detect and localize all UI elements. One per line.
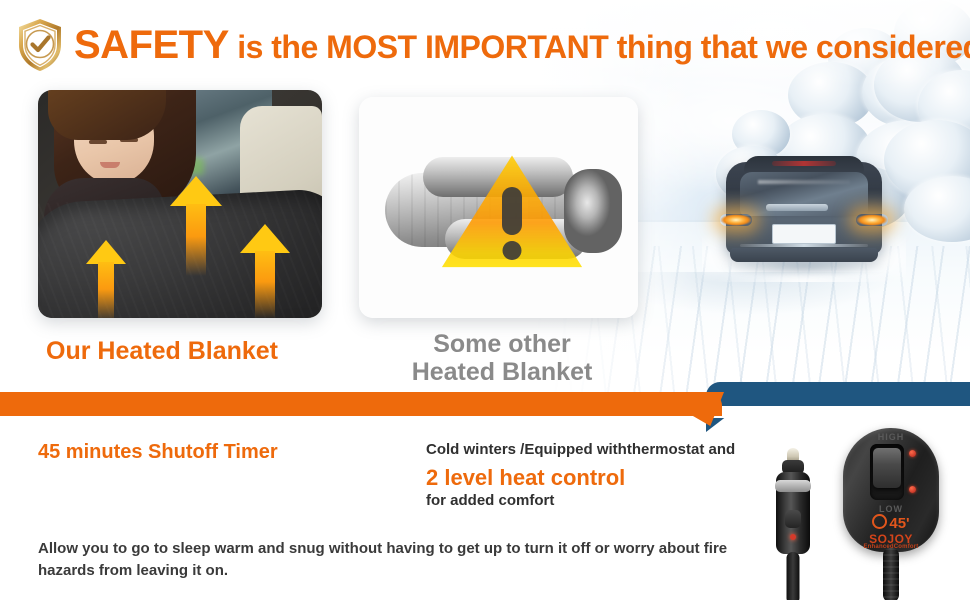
infographic-canvas: SAFETY is the MOST IMPORTANT thing that … — [0, 0, 970, 600]
heat-control-line1: Cold winters /Equipped withthermostat an… — [426, 441, 786, 460]
heat-control-line3: for added comfort — [426, 492, 786, 511]
woman-hair-front — [48, 90, 166, 140]
controller-cord — [883, 548, 899, 600]
header: SAFETY is the MOST IMPORTANT thing that … — [0, 0, 970, 86]
safety-paragraph: Allow you to go to sleep warm and snug w… — [38, 538, 750, 582]
band-notch — [706, 406, 970, 418]
caption-other-blanket-line2: Heated Blanket — [404, 358, 600, 386]
controller-led-low-icon — [909, 486, 916, 493]
heat-control-block: Cold winters /Equipped withthermostat an… — [426, 441, 786, 511]
card-some-other-heated-blanket[interactable] — [359, 97, 638, 318]
controller-slider-track[interactable] — [870, 444, 904, 500]
card-our-heated-blanket[interactable] — [38, 90, 322, 318]
caption-other-blanket-line1: Some other — [404, 330, 600, 358]
heat-controller[interactable]: HIGH LOW 45' SOJOY EnhancedComfort — [843, 428, 939, 600]
clock-icon — [872, 514, 887, 529]
caption-our-blanket: Our Heated Blanket — [46, 337, 278, 365]
headline-rest: is the MOST IMPORTANT thing that we cons… — [229, 29, 970, 65]
headline-emphasis: SAFETY — [74, 23, 229, 67]
controller-label-high: HIGH — [843, 432, 939, 442]
caption-other-blanket: Some other Heated Blanket — [404, 330, 600, 386]
controller-slider-knob[interactable] — [873, 448, 901, 488]
controller-led-high-icon — [909, 450, 916, 457]
heat-control-line2: 2 level heat control — [426, 464, 786, 493]
plug-led-icon — [790, 534, 796, 540]
controller-timer-value: 45' — [889, 515, 909, 532]
car-rear-icon — [718, 152, 890, 276]
shield-check-icon — [16, 18, 64, 72]
page-title: SAFETY is the MOST IMPORTANT thing that … — [74, 18, 962, 74]
shutoff-timer-label: 45 minutes Shutoff Timer — [38, 441, 278, 464]
orange-divider-band — [0, 392, 722, 416]
controller-timer-badge: 45' — [843, 514, 939, 532]
car-lighter-plug — [775, 448, 811, 600]
warning-triangle-icon — [439, 153, 585, 277]
controller-label-low: LOW — [843, 504, 939, 514]
